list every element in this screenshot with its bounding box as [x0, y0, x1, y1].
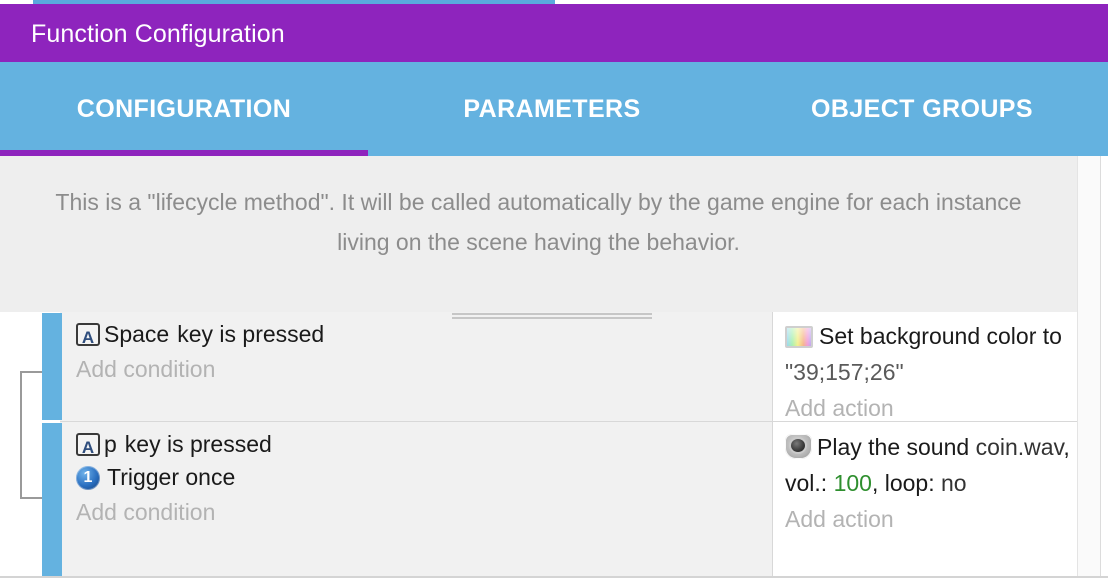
condition-item[interactable]: p key is pressed	[76, 428, 772, 461]
add-action-button[interactable]: Add action	[785, 501, 1077, 537]
speaker-sound-icon	[785, 434, 812, 459]
event-row: Space key is pressed Add condition Set b…	[0, 312, 1077, 422]
actions-column: Play the sound coin.wav, vol.: 100, loop…	[772, 422, 1077, 578]
condition-text: key is pressed	[125, 428, 272, 461]
dialog-title-bar: Function Configuration	[0, 4, 1108, 62]
function-configuration-dialog: Function Configuration CONFIGURATION PAR…	[0, 0, 1108, 578]
action-value: "39;157;26"	[785, 359, 904, 385]
add-condition-button[interactable]: Add condition	[76, 351, 772, 387]
trigger-once-icon	[76, 466, 100, 490]
event-row-handle[interactable]	[42, 423, 62, 576]
conditions-column: p key is pressed Trigger once Add condit…	[62, 422, 772, 578]
events-sheet: Space key is pressed Add condition Set b…	[0, 312, 1077, 578]
tab-object-groups[interactable]: OBJECT GROUPS	[736, 62, 1108, 156]
event-row: p key is pressed Trigger once Add condit…	[0, 422, 1077, 578]
action-sound-file: coin.wav	[976, 434, 1064, 460]
color-gradient-icon	[785, 326, 813, 348]
tab-parameters[interactable]: PARAMETERS	[368, 62, 736, 156]
conditions-column: Space key is pressed Add condition	[62, 312, 772, 422]
vertical-scrollbar[interactable]	[1100, 156, 1108, 578]
tab-bar: CONFIGURATION PARAMETERS OBJECT GROUPS	[0, 62, 1108, 156]
description-panel: This is a "lifecycle method". It will be…	[0, 156, 1077, 292]
dialog-title: Function Configuration	[31, 20, 285, 49]
action-text-3: , loop:	[872, 470, 941, 496]
condition-item[interactable]: Space key is pressed	[76, 318, 772, 351]
description-spacer	[0, 292, 1077, 312]
action-volume-value: 100	[834, 470, 872, 496]
keyboard-key-icon	[76, 433, 100, 456]
condition-text: Trigger once	[107, 461, 235, 494]
actions-column: Set background color to "39;157;26" Add …	[772, 312, 1077, 422]
condition-text: key is pressed	[177, 318, 324, 351]
action-text: Set background color to	[819, 323, 1062, 349]
keyboard-key-icon	[76, 323, 100, 346]
action-loop-value: no	[941, 470, 967, 496]
condition-item[interactable]: Trigger once	[76, 461, 772, 494]
condition-key: Space	[104, 318, 169, 351]
tab-configuration[interactable]: CONFIGURATION	[0, 62, 368, 156]
lifecycle-description: This is a "lifecycle method". It will be…	[28, 182, 1049, 262]
action-text: Play the sound	[817, 434, 976, 460]
action-item[interactable]: Set background color to "39;157;26"	[785, 318, 1077, 390]
condition-key: p	[104, 428, 117, 461]
event-row-handle[interactable]	[42, 313, 62, 420]
action-item[interactable]: Play the sound coin.wav, vol.: 100, loop…	[785, 428, 1077, 501]
add-condition-button[interactable]: Add condition	[76, 494, 772, 530]
